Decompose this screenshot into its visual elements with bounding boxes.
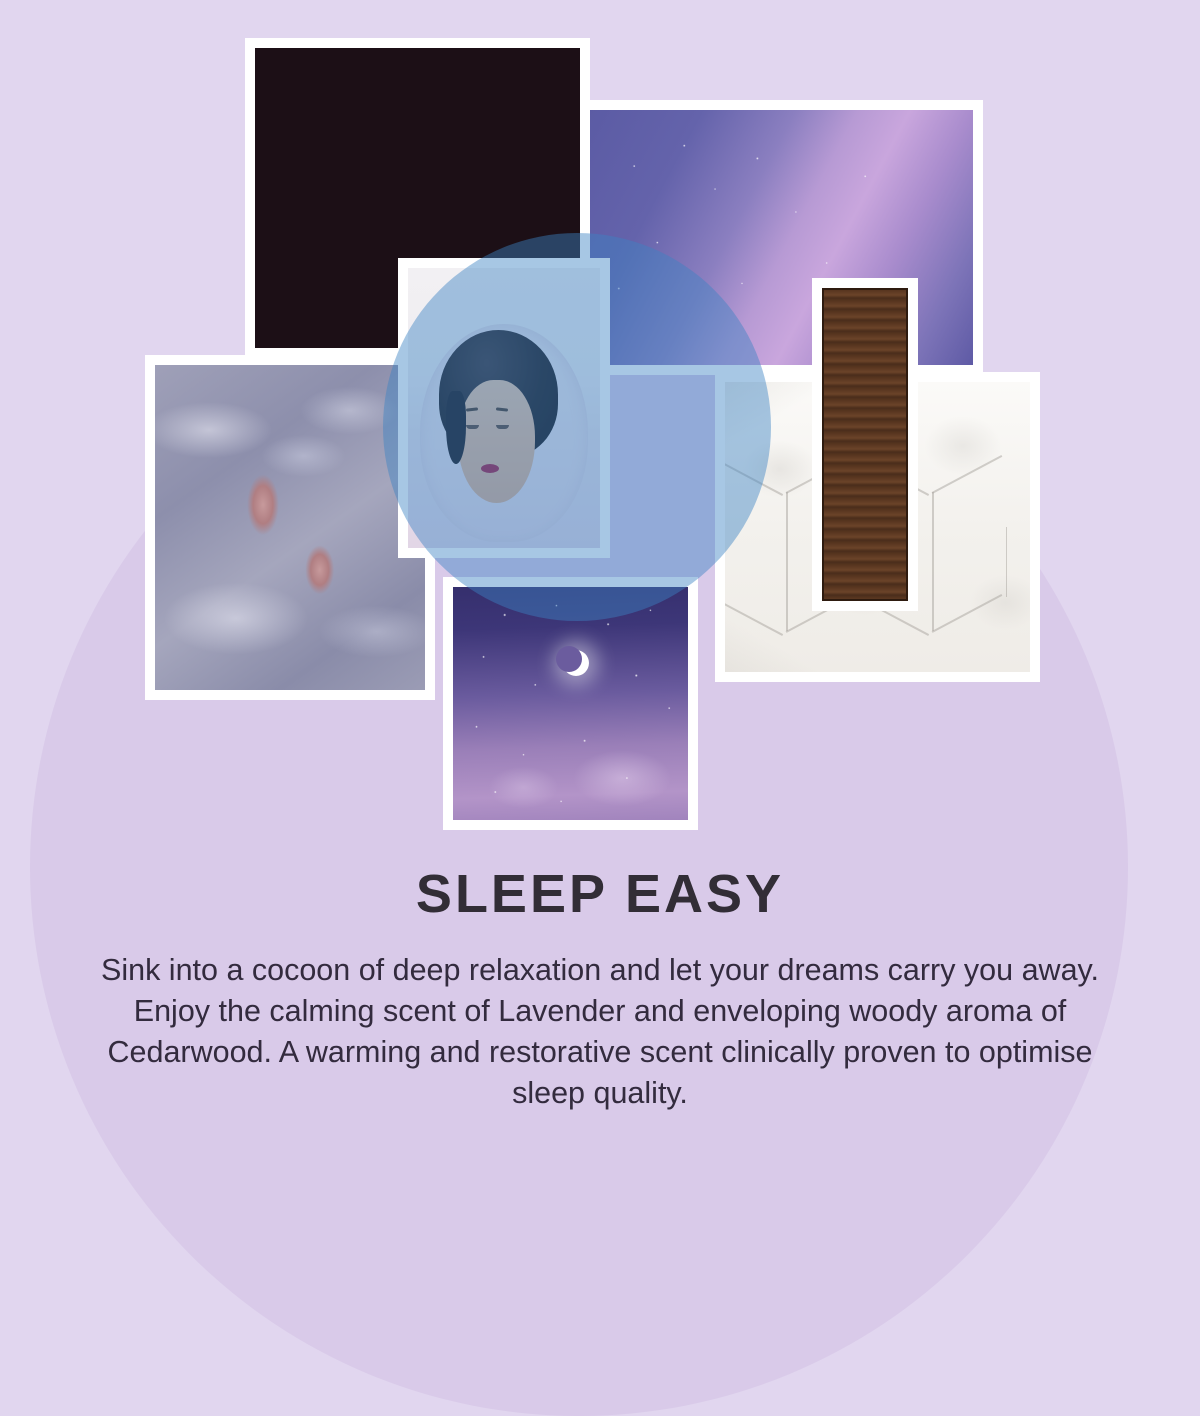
photo-moon-night-sky — [443, 577, 698, 830]
hair-strand-shape — [446, 391, 465, 464]
moon-night-sky-image — [453, 587, 688, 820]
wooden-bath-mat-image — [822, 288, 908, 601]
photo-woman-in-bath — [398, 258, 610, 558]
page-title: SLEEP EASY — [0, 863, 1200, 925]
photo-milk-bath — [145, 355, 435, 700]
body-description: Sink into a cocoon of deep relaxation an… — [70, 950, 1130, 1114]
photo-purple-sky — [578, 100, 983, 375]
face-shape — [458, 380, 535, 503]
eye-right — [496, 425, 509, 429]
eye-left — [466, 425, 479, 429]
woman-in-bath-image — [408, 268, 600, 548]
photo-wooden-bath-mat — [812, 278, 918, 611]
lips-shape — [481, 464, 499, 473]
milk-bath-image — [155, 365, 425, 690]
crescent-moon-icon — [563, 650, 589, 676]
